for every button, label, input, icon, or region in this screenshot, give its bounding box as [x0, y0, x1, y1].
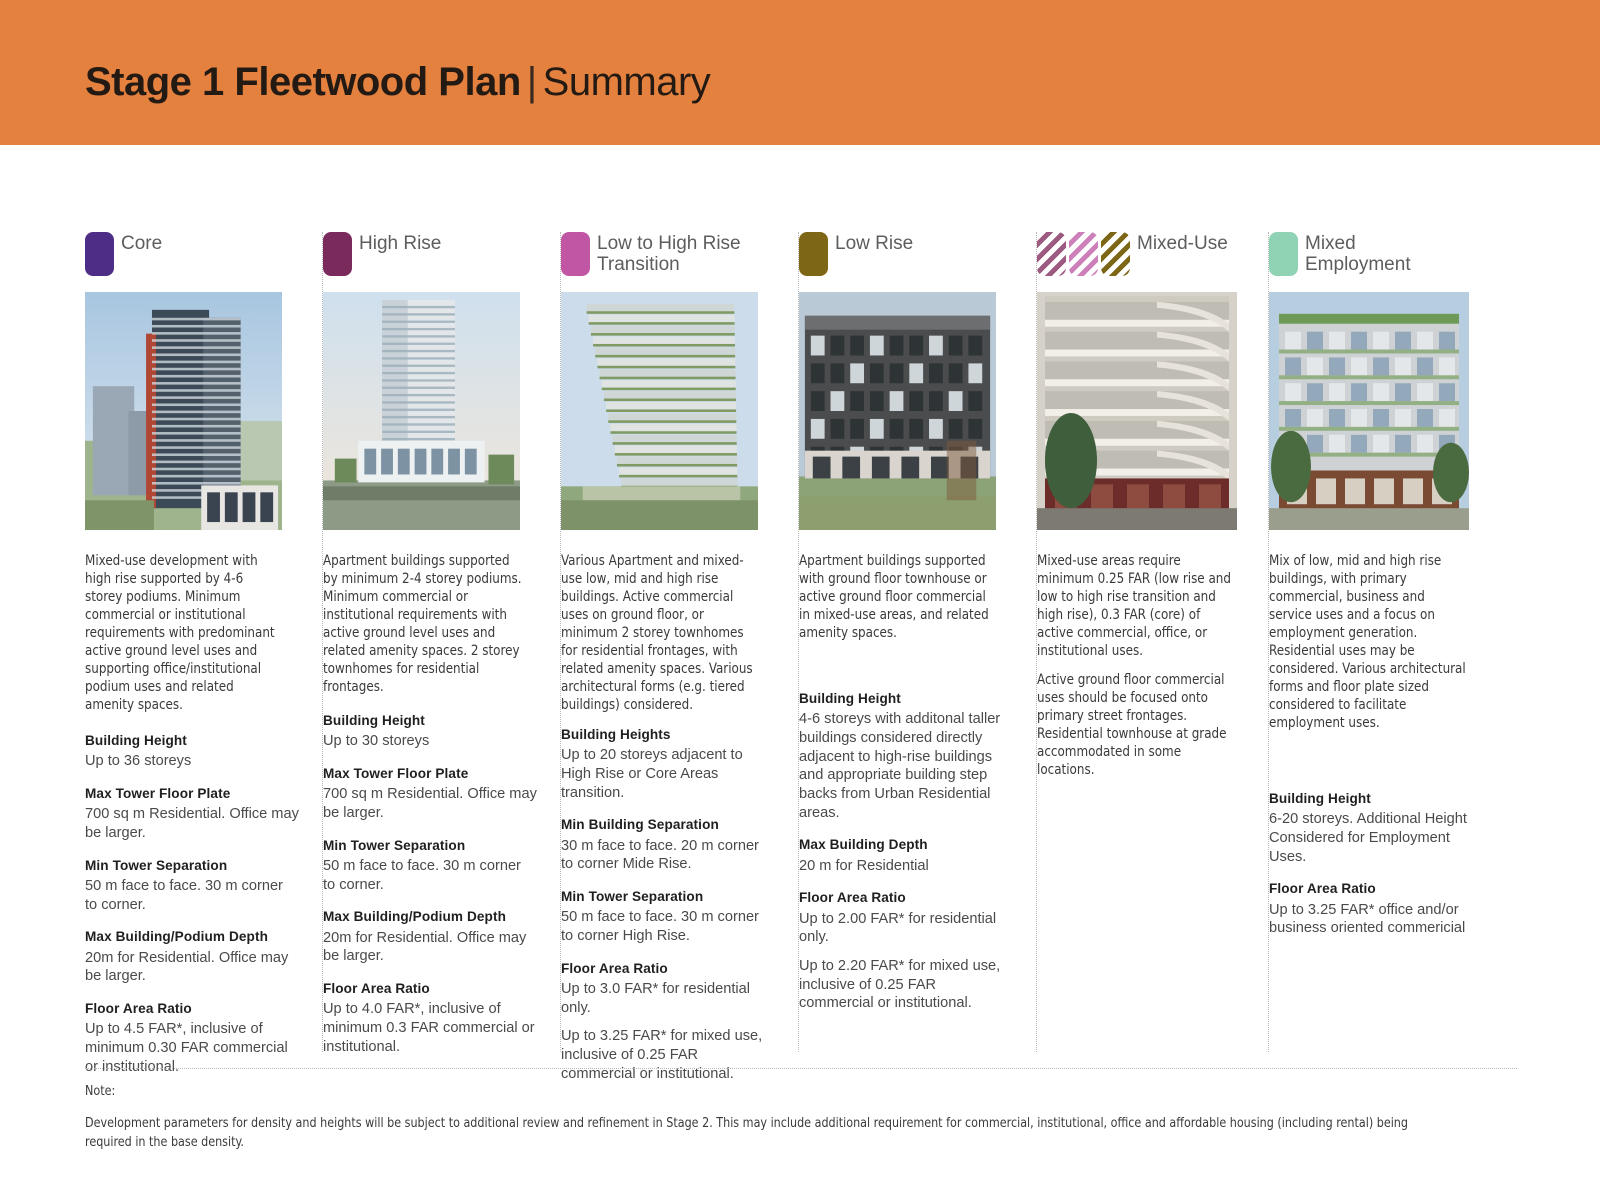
color-swatch-mixed-use-1	[1069, 232, 1098, 276]
spec-value: 30 m face to face. 20 m corner to corner…	[561, 837, 775, 874]
spec-value-line: 4-6 storeys with additonal taller buildi…	[799, 710, 1013, 822]
spec-value: Up to 2.00 FAR* for residential only.Up …	[799, 910, 1013, 1013]
intro-paragraph: Apartment buildings supported with groun…	[799, 552, 998, 642]
spec-value-line: 50 m face to face. 30 m corner to corner…	[85, 877, 299, 914]
spec-list-mixed-employment: Building Height6-20 storeys. Additional …	[1269, 790, 1483, 938]
spec-value: 50 m face to face. 30 m corner to corner…	[85, 877, 299, 914]
spec-value: 50 m face to face. 30 m corner to corner…	[323, 857, 537, 894]
spec-list-high-rise: Building HeightUp to 30 storeysMax Tower…	[323, 712, 537, 1056]
spec-value: Up to 3.25 FAR* office and/or business o…	[1269, 901, 1483, 938]
spec-item: Max Building/Podium Depth20m for Residen…	[323, 908, 537, 966]
legend-core: Core	[85, 232, 309, 284]
tiered-terraced-midrise-render	[561, 292, 758, 530]
spec-value-line: 50 m face to face. 30 m corner to corner…	[323, 857, 537, 894]
spec-item: Floor Area RatioUp to 4.0 FAR*, inclusiv…	[323, 980, 537, 1056]
low-rise-apartment-block-render	[799, 292, 996, 530]
intro-paragraph: Mix of low, mid and high rise buildings,…	[1269, 552, 1468, 732]
swatch-group	[85, 232, 114, 276]
zone-column-mixed-use: Mixed-Use Mixed-use areas require minimu…	[1037, 232, 1269, 1052]
color-swatch-low-to-high-rise-transition-0	[561, 232, 590, 276]
spec-item: Building Height6-20 storeys. Additional …	[1269, 790, 1483, 866]
swatch-group	[323, 232, 352, 276]
swatch-group	[799, 232, 828, 276]
note-label: Note:	[85, 1082, 1410, 1102]
spec-value: 20m for Residential. Office may be large…	[323, 929, 537, 966]
header-band: Stage 1 Fleetwood Plan|Summary	[0, 0, 1600, 145]
note-body: Development parameters for density and h…	[85, 1114, 1410, 1153]
spec-value-line: Up to 30 storeys	[323, 732, 537, 751]
spec-key: Building Heights	[561, 726, 775, 744]
spec-item: Max Building Depth20 m for Residential	[799, 836, 1013, 875]
swatch-group	[1269, 232, 1298, 276]
legend-low-rise: Low Rise	[799, 232, 1023, 284]
spec-value-line: 20 m for Residential	[799, 857, 1013, 876]
spec-value-line: Up to 3.0 FAR* for residential only.	[561, 980, 775, 1017]
high-rise-tower-render	[323, 292, 520, 530]
spec-key: Max Building/Podium Depth	[323, 908, 537, 926]
spec-key: Min Building Separation	[561, 816, 775, 834]
spec-key: Building Height	[323, 712, 537, 730]
swatch-group	[561, 232, 590, 276]
spec-key: Floor Area Ratio	[85, 1000, 299, 1018]
swatch-group	[1037, 232, 1130, 276]
legend-label-mixed-employment: Mixed Employment	[1305, 232, 1463, 275]
zone-column-high-rise: High Rise Apartment buildings supported …	[323, 232, 561, 1052]
footer-divider	[85, 1068, 1517, 1069]
spec-value-line: 30 m face to face. 20 m corner to corner…	[561, 837, 775, 874]
legend-high-rise: High Rise	[323, 232, 547, 284]
intro-paragraph: Apartment buildings supported by minimum…	[323, 552, 522, 696]
spec-value-line: Up to 36 storeys	[85, 752, 299, 771]
color-swatch-high-rise-0	[323, 232, 352, 276]
spec-item: Building HeightsUp to 20 storeys adjacen…	[561, 726, 775, 802]
spec-key: Max Building Depth	[799, 836, 1013, 854]
spec-value-line: 6-20 storeys. Additional Height Consider…	[1269, 810, 1483, 866]
page-title-light: Summary	[543, 60, 711, 104]
intro-paragraph: Mixed-use areas require minimum 0.25 FAR…	[1037, 552, 1236, 660]
spec-item: Min Tower Separation50 m face to face. 3…	[561, 888, 775, 946]
legend-mixed-use: Mixed-Use	[1037, 232, 1255, 284]
intro-text-low-rise: Apartment buildings supported with groun…	[799, 552, 998, 642]
intro-text-high-rise: Apartment buildings supported by minimum…	[323, 552, 522, 696]
color-swatch-low-rise-0	[799, 232, 828, 276]
spec-value: 700 sq m Residential. Office may be larg…	[85, 805, 299, 842]
page-title: Stage 1 Fleetwood Plan|Summary	[85, 60, 710, 105]
color-swatch-mixed-employment-0	[1269, 232, 1298, 276]
spec-value-line: Up to 3.25 FAR* for mixed use, inclusive…	[561, 1027, 775, 1083]
mixed-employment-green-roof-building-render	[1269, 292, 1469, 530]
mixed-use-curved-corner-building-render	[1037, 292, 1237, 530]
spec-item: Max Tower Floor Plate700 sq m Residentia…	[85, 785, 299, 843]
intro-text-mixed-use: Mixed-use areas require minimum 0.25 FAR…	[1037, 552, 1236, 779]
spec-value: 50 m face to face. 30 m corner to corner…	[561, 908, 775, 945]
spec-value: Up to 4.0 FAR*, inclusive of minimum 0.3…	[323, 1000, 537, 1056]
spec-item: Floor Area RatioUp to 4.5 FAR*, inclusiv…	[85, 1000, 299, 1076]
spec-item: Max Tower Floor Plate700 sq m Residentia…	[323, 765, 537, 823]
spec-list-low-to-high-rise-transition: Building HeightsUp to 20 storeys adjacen…	[561, 726, 775, 1083]
spec-key: Min Tower Separation	[561, 888, 775, 906]
spec-value-line: 20m for Residential. Office may be large…	[85, 949, 299, 986]
spec-value: 20m for Residential. Office may be large…	[85, 949, 299, 986]
spec-value-line: Up to 20 storeys adjacent to High Rise o…	[561, 746, 775, 802]
spec-value: 20 m for Residential	[799, 857, 1013, 876]
spec-value-line: 50 m face to face. 30 m corner to corner…	[561, 908, 775, 945]
legend-label-mixed-use: Mixed-Use	[1137, 232, 1228, 255]
spec-item: Min Building Separation30 m face to face…	[561, 816, 775, 874]
intro-paragraph: Active ground floor commercial uses shou…	[1037, 671, 1236, 779]
spec-key: Floor Area Ratio	[1269, 880, 1483, 898]
footer-note: Note: Development parameters for density…	[85, 1082, 1410, 1153]
legend-label-low-rise: Low Rise	[835, 232, 913, 255]
spec-key: Max Tower Floor Plate	[323, 765, 537, 783]
spec-item: Building Height4-6 storeys with additona…	[799, 690, 1013, 822]
zone-column-low-rise: Low Rise Apartment buildings supported w…	[799, 232, 1037, 1052]
spec-key: Min Tower Separation	[85, 857, 299, 875]
legend-label-core: Core	[121, 232, 162, 255]
intro-paragraph: Mixed-use development with high rise sup…	[85, 552, 284, 714]
zone-column-mixed-employment: Mixed Employment Mix of low, mid and hig…	[1269, 232, 1477, 1052]
spec-value-line: Up to 4.0 FAR*, inclusive of minimum 0.3…	[323, 1000, 537, 1056]
page-title-separator: |	[521, 60, 543, 104]
spec-value-line: Up to 2.20 FAR* for mixed use, inclusive…	[799, 957, 1013, 1013]
color-swatch-mixed-use-0	[1037, 232, 1066, 276]
spec-item: Min Tower Separation50 m face to face. 3…	[85, 857, 299, 915]
spec-value: Up to 30 storeys	[323, 732, 537, 751]
spec-item: Building HeightUp to 36 storeys	[85, 732, 299, 771]
spec-item: Min Tower Separation50 m face to face. 3…	[323, 837, 537, 895]
spec-key: Min Tower Separation	[323, 837, 537, 855]
intro-paragraph: Various Apartment and mixed-use low, mid…	[561, 552, 760, 714]
legend-label-high-rise: High Rise	[359, 232, 441, 255]
legend-mixed-employment: Mixed Employment	[1269, 232, 1463, 284]
spec-list-core: Building HeightUp to 36 storeysMax Tower…	[85, 732, 299, 1076]
spec-item: Floor Area RatioUp to 3.0 FAR* for resid…	[561, 960, 775, 1084]
spec-value: Up to 20 storeys adjacent to High Rise o…	[561, 746, 775, 802]
zone-columns: Core Mixed-use development with high ris…	[85, 232, 1517, 1052]
spec-key: Building Height	[799, 690, 1013, 708]
spec-value-line: 20m for Residential. Office may be large…	[323, 929, 537, 966]
page-title-bold: Stage 1 Fleetwood Plan	[85, 60, 521, 104]
core-highrise-tower-render	[85, 292, 282, 530]
spec-key: Floor Area Ratio	[323, 980, 537, 998]
spec-value: 700 sq m Residential. Office may be larg…	[323, 785, 537, 822]
legend-low-to-high-rise-transition: Low to High Rise Transition	[561, 232, 785, 284]
spec-list-low-rise: Building Height4-6 storeys with additona…	[799, 690, 1013, 1013]
spec-item: Max Building/Podium Depth20m for Residen…	[85, 928, 299, 986]
spec-value-line: Up to 2.00 FAR* for residential only.	[799, 910, 1013, 947]
zone-column-core: Core Mixed-use development with high ris…	[85, 232, 323, 1052]
spec-item: Floor Area RatioUp to 2.00 FAR* for resi…	[799, 889, 1013, 1013]
spec-value-line: 700 sq m Residential. Office may be larg…	[85, 805, 299, 842]
spec-key: Max Tower Floor Plate	[85, 785, 299, 803]
spec-key: Building Height	[85, 732, 299, 750]
intro-text-mixed-employment: Mix of low, mid and high rise buildings,…	[1269, 552, 1468, 732]
legend-label-low-to-high-rise-transition: Low to High Rise Transition	[597, 232, 785, 275]
spec-value: Up to 36 storeys	[85, 752, 299, 771]
intro-text-low-to-high-rise-transition: Various Apartment and mixed-use low, mid…	[561, 552, 760, 714]
spec-item: Floor Area RatioUp to 3.25 FAR* office a…	[1269, 880, 1483, 938]
color-swatch-core-0	[85, 232, 114, 276]
spec-value: 4-6 storeys with additonal taller buildi…	[799, 710, 1013, 822]
spec-value: 6-20 storeys. Additional Height Consider…	[1269, 810, 1483, 866]
spec-key: Building Height	[1269, 790, 1483, 808]
color-swatch-mixed-use-2	[1101, 232, 1130, 276]
spec-key: Max Building/Podium Depth	[85, 928, 299, 946]
spec-value-line: 700 sq m Residential. Office may be larg…	[323, 785, 537, 822]
spec-key: Floor Area Ratio	[799, 889, 1013, 907]
intro-text-core: Mixed-use development with high rise sup…	[85, 552, 284, 714]
zone-column-low-to-high-rise-transition: Low to High Rise Transition	[561, 232, 799, 1052]
spec-item: Building HeightUp to 30 storeys	[323, 712, 537, 751]
spec-value-line: Up to 3.25 FAR* office and/or business o…	[1269, 901, 1483, 938]
spec-key: Floor Area Ratio	[561, 960, 775, 978]
